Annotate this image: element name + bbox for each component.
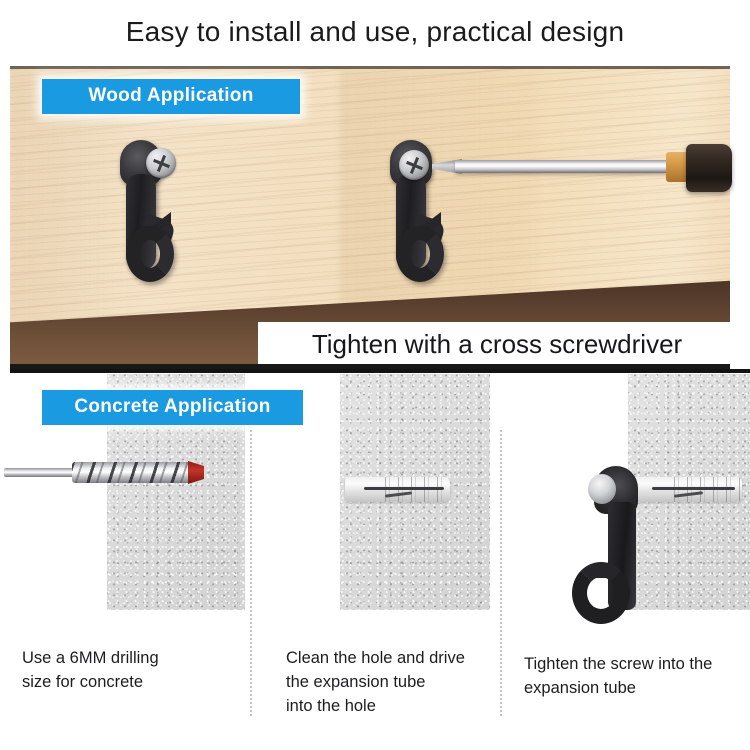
expansion-tube-slot xyxy=(364,487,444,490)
expansion-tube-ribs xyxy=(385,477,450,502)
step-divider xyxy=(250,430,252,716)
wood-application-caption: Tighten with a cross screwdriver xyxy=(258,322,736,366)
hook-curl xyxy=(126,226,174,282)
page-title: Easy to install and use, practical desig… xyxy=(0,14,750,50)
wood-application-badge: Wood Application xyxy=(42,79,300,114)
expansion-tube-icon xyxy=(345,477,450,502)
expansion-tube-slot xyxy=(652,487,736,490)
masonry-drill-bit-icon xyxy=(72,462,192,483)
screwdriver-handle xyxy=(686,144,732,192)
step-caption-3: Tighten the screw into the expansion tub… xyxy=(524,652,749,700)
masonry-drill-bit-shank xyxy=(4,468,78,477)
screwdriver-shaft xyxy=(455,160,675,173)
concrete-section-top-rule xyxy=(10,369,750,373)
infographic-page: Easy to install and use, practical desig… xyxy=(0,0,750,750)
concrete-application-badge: Concrete Application xyxy=(42,390,303,425)
phillips-screw-icon xyxy=(588,474,616,504)
phillips-screw-icon xyxy=(146,148,176,178)
hook-curl xyxy=(572,562,630,624)
step-caption-2: Clean the hole and drive the expansion t… xyxy=(286,646,501,718)
step-caption-1: Use a 6MM drilling size for concrete xyxy=(22,646,237,694)
expansion-tube-ribs xyxy=(674,477,742,502)
wood-shade-mid xyxy=(340,69,540,324)
phillips-screw-icon xyxy=(399,150,429,180)
hook-curl xyxy=(396,226,444,282)
expansion-tube-icon xyxy=(632,477,742,502)
